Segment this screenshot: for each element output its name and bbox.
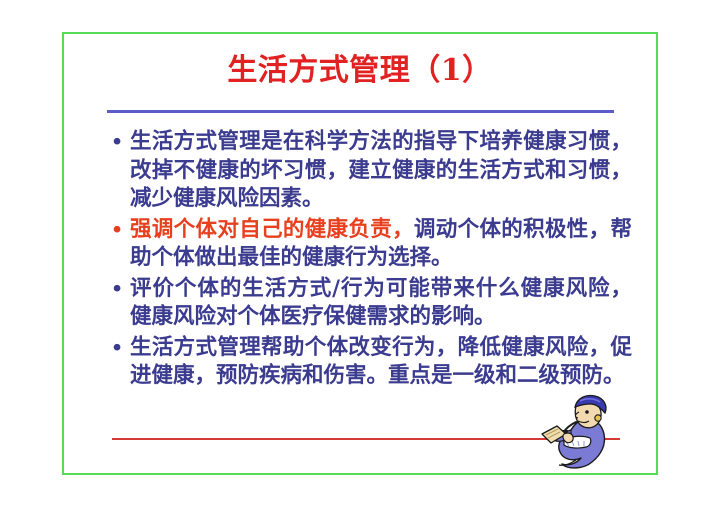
bullet-text-emphasis: 强调个体对自己的健康负责， (130, 217, 414, 242)
genie-clipart-icon (540, 392, 624, 470)
page-title: 生活方式管理（1） (62, 52, 658, 90)
list-item: • 生活方式管理是在科学方法的指导下培养健康习惯，改掉不健康的坏习惯，建立健康的… (108, 128, 632, 214)
bullet-text: 评价个体的生活方式/行为可能带来什么健康风险，健康风险对个体医疗保健需求的影响。 (130, 276, 632, 330)
bullet-text: 生活方式管理帮助个体改变行为，降低健康风险，促进健康，预防疾病和伤害。重点是一级… (130, 335, 632, 389)
list-item: • 强调个体对自己的健康负责，调动个体的积极性，帮助个体做出最佳的健康行为选择。 (108, 216, 632, 273)
bullet-dot-icon: • (111, 334, 125, 363)
bullet-dot-icon: • (111, 128, 125, 157)
bullet-text: 生活方式管理是在科学方法的指导下培养健康习惯，改掉不健康的坏习惯，建立健康的生活… (130, 129, 632, 211)
bullet-dot-icon: • (111, 216, 125, 245)
list-item: • 生活方式管理帮助个体改变行为，降低健康风险，促进健康，预防疾病和伤害。重点是… (108, 334, 632, 391)
bullet-dot-icon: • (111, 275, 125, 304)
slide-canvas: 生活方式管理（1） • 生活方式管理是在科学方法的指导下培养健康习惯，改掉不健康… (0, 0, 720, 509)
bullet-list: • 生活方式管理是在科学方法的指导下培养健康习惯，改掉不健康的坏习惯，建立健康的… (108, 128, 632, 393)
title-divider-rule (107, 110, 614, 113)
list-item: • 评价个体的生活方式/行为可能带来什么健康风险，健康风险对个体医疗保健需求的影… (108, 275, 632, 332)
